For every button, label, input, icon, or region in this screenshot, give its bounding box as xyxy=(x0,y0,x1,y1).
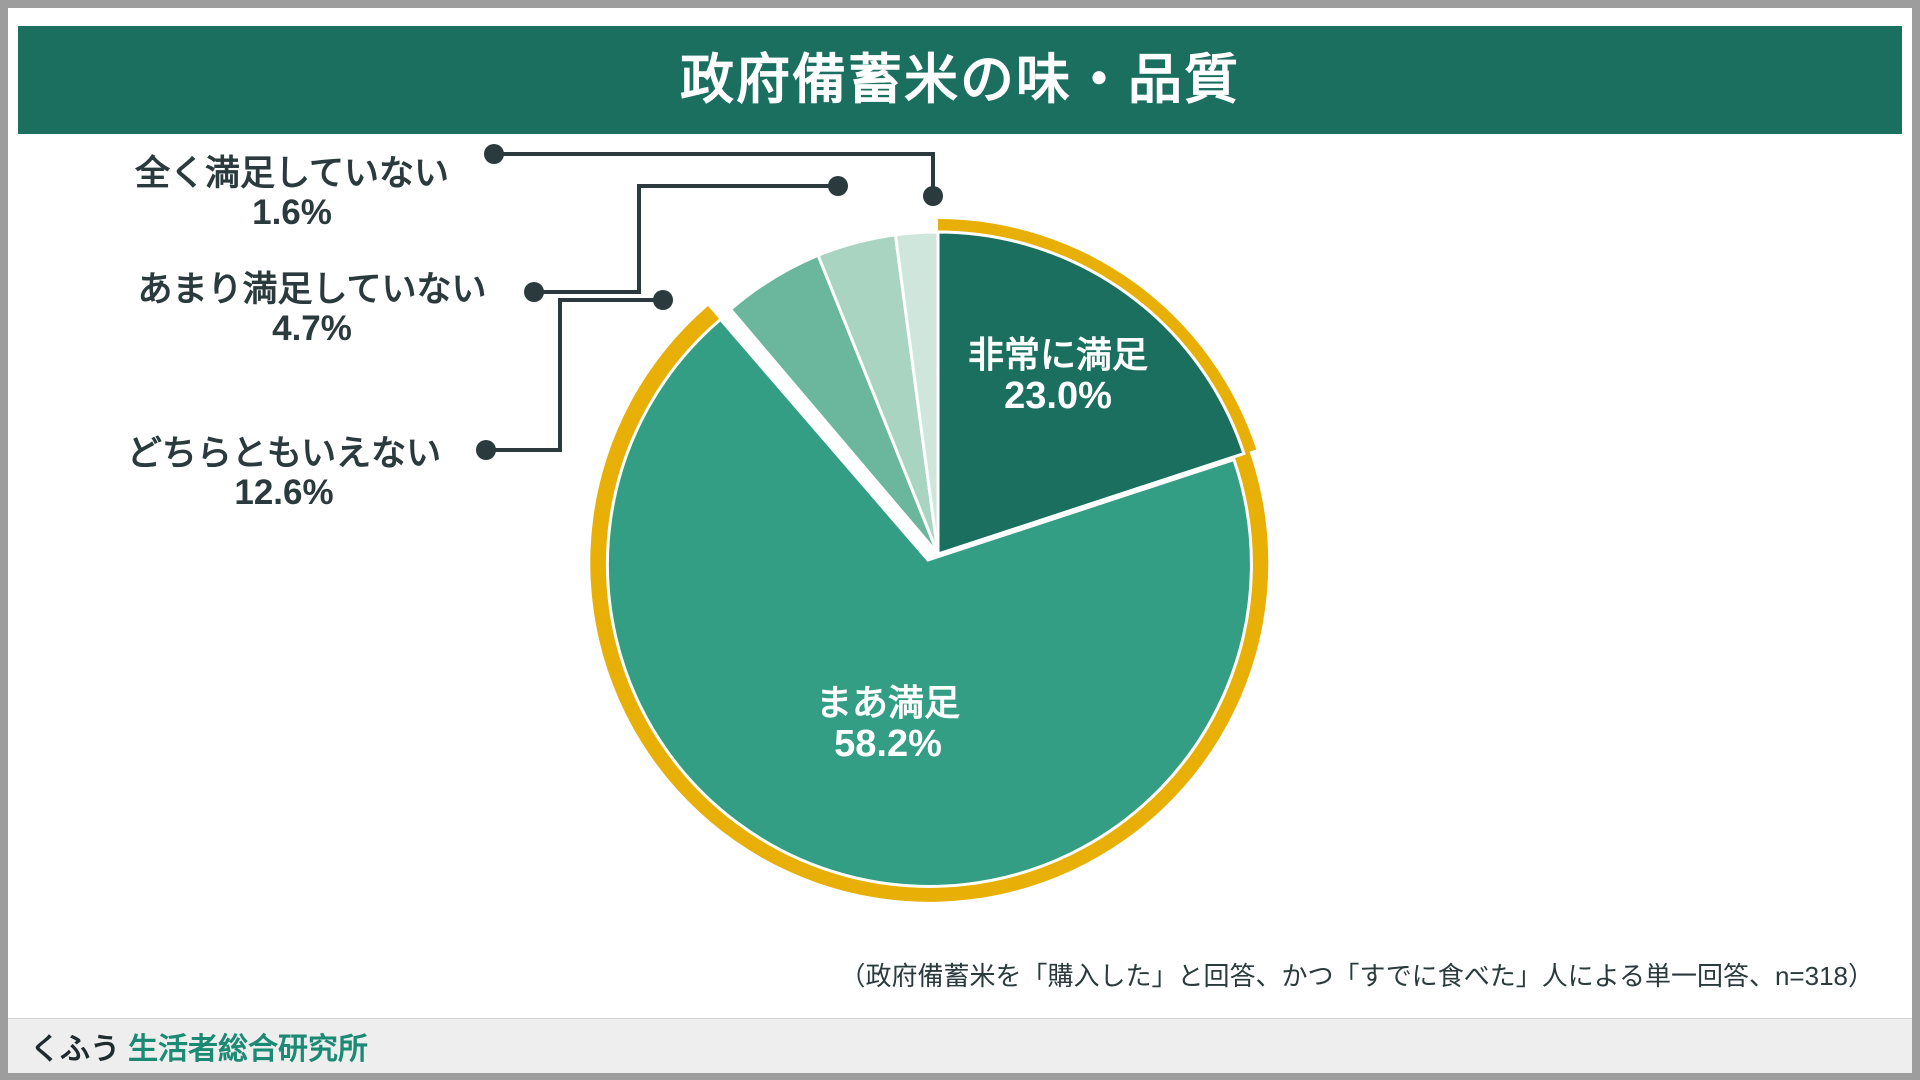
slide-canvas: 政府備蓄米の味・品質 xyxy=(8,8,1912,1018)
pie-label-somewhat-satisfied: まあ満足 58.2% xyxy=(708,682,1068,766)
leader-line-not-at-all xyxy=(494,154,933,196)
brand-logo: くふう生活者総合研究所 xyxy=(30,1024,368,1068)
header-bar: 政府備蓄米の味・品質 xyxy=(18,26,1902,134)
callout-value: 1.6% xyxy=(92,193,492,232)
callout-label: 全く満足していない xyxy=(92,154,492,193)
callout-not-at-all-satisfied: 全く満足していない 1.6% xyxy=(92,154,492,232)
callout-neutral: どちらともいえない 12.6% xyxy=(84,434,484,512)
leader-dot-slice-not-at-all xyxy=(923,186,943,206)
pie-label-very-satisfied: 非常に満足 23.0% xyxy=(878,334,1238,418)
footer-bar: くふう生活者総合研究所 xyxy=(8,1018,1912,1073)
leader-dot-slice-neutral xyxy=(653,290,673,310)
callout-value: 12.6% xyxy=(84,473,484,512)
pie-slices xyxy=(590,219,1268,902)
pie-label-name: 非常に満足 xyxy=(878,334,1238,375)
brand-logo-secondary: 生活者総合研究所 xyxy=(128,1033,368,1066)
slide-frame: 政府備蓄米の味・品質 xyxy=(8,8,1912,1072)
pie-chart-svg xyxy=(8,134,1912,964)
callout-value: 4.7% xyxy=(92,309,532,348)
brand-logo-primary: くふう xyxy=(30,1033,120,1066)
callout-label: どちらともいえない xyxy=(84,434,484,473)
callout-label: あまり満足していない xyxy=(92,270,532,309)
leader-dot-slice-not-very xyxy=(828,176,848,196)
pie-label-name: まあ満足 xyxy=(708,682,1068,723)
pie-label-value: 58.2% xyxy=(708,723,1068,766)
pie-label-value: 23.0% xyxy=(878,375,1238,418)
pie-chart: 全く満足していない 1.6% あまり満足していない 4.7% どちらともいえない… xyxy=(8,134,1912,964)
chart-footnote: （政府備蓄米を「購入した」と回答、かつ「すでに食べた」人による単一回答、n=31… xyxy=(8,956,1892,993)
callout-not-very-satisfied: あまり満足していない 4.7% xyxy=(92,270,532,348)
page-title: 政府備蓄米の味・品質 xyxy=(680,53,1240,107)
